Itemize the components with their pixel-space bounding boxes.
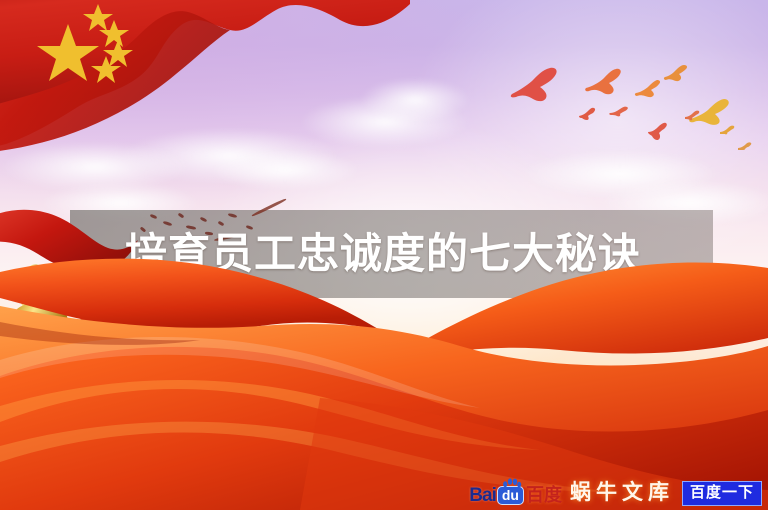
baidu-logo[interactable]: Bai du 百度 xyxy=(469,481,562,505)
red-silk-hills xyxy=(0,210,768,510)
baidu-search-button[interactable]: 百度一下 xyxy=(682,481,762,506)
cover-image: 培育员工忠诚度的七大秘诀 xyxy=(0,0,768,510)
dove-icon-11 xyxy=(736,140,754,158)
dove-icon-3 xyxy=(633,78,663,107)
chinese-flag xyxy=(0,0,410,201)
baidu-du-badge: du xyxy=(497,486,524,505)
dove-icon-6 xyxy=(577,106,597,129)
dove-icon-4 xyxy=(662,63,690,92)
dove-icon-8 xyxy=(645,120,671,151)
dove-icon-7 xyxy=(608,104,630,125)
dove-icon-10 xyxy=(718,124,736,143)
baidu-latin-text: Bai xyxy=(469,486,496,505)
paw-print-icon xyxy=(502,478,522,489)
dove-icon-1 xyxy=(506,64,564,115)
footer-brand-bar: Bai du 百度 蜗牛文库 百度一下 xyxy=(469,478,762,508)
dove-icon-9 xyxy=(683,108,701,129)
dove-icon-2 xyxy=(582,66,626,107)
site-name: 蜗牛文库 xyxy=(570,482,674,504)
baidu-chinese-text: 百度 xyxy=(526,486,562,505)
